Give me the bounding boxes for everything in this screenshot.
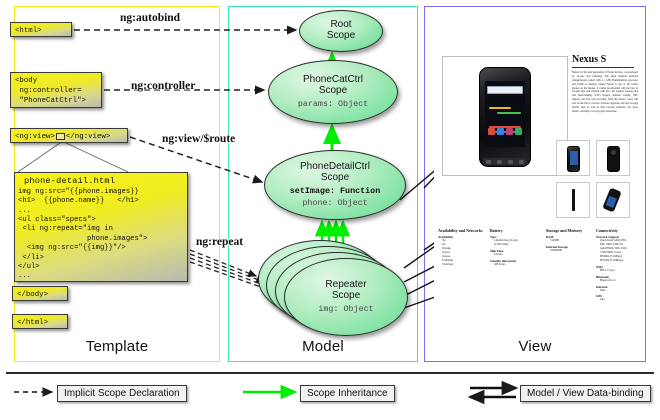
spec-table: Availability and Networks Availability 3…	[438, 228, 638, 310]
product-description: Nexus S is the next generation of Nexus …	[572, 71, 638, 114]
search-bar-icon	[487, 86, 523, 94]
thumb-front-icon	[567, 146, 580, 172]
spec-group-connectivity: Connectivity Network Support Quad-band G…	[596, 228, 642, 302]
diagram-canvas: <html> <body ng:controller= "PhoneCatCtr…	[0, 0, 660, 420]
scope-phonecatctrl-prop-params: params: Object	[298, 99, 368, 109]
spec-value-3-0-5: HSUPA (5.76Mbps)	[596, 259, 642, 263]
scope-repeater[interactable]: Repeater Scope img: Object	[284, 258, 408, 336]
scope-root-name-2: Scope	[327, 31, 355, 42]
code-block-body-close[interactable]: </body>	[12, 286, 68, 301]
legend-item-model-view-data-binding: Model / View Data-binding	[520, 385, 651, 402]
legend-divider	[6, 372, 654, 374]
callout-phone-detail-html[interactable]: phone-detail.html img ng:src="{{phone.im…	[14, 172, 188, 282]
spec-value-2-0-0: 512MB	[546, 239, 594, 243]
thumbnail-phone-side[interactable]	[556, 182, 590, 218]
legend-item-scope-inheritance: Scope Inheritance	[300, 385, 395, 402]
thumbnail-phone-back[interactable]	[596, 140, 630, 176]
spec-value-1-0-1: (1500 mAh)	[490, 243, 540, 247]
thumb-back-icon	[607, 146, 620, 172]
callout-code: img ng:src="{{phone.images}} <h1> {{phon…	[15, 188, 187, 282]
product-title: Nexus S	[572, 54, 606, 65]
scope-phonecatctrl[interactable]: PhoneCatCtrl Scope params: Object	[268, 60, 398, 124]
code-block-html-open[interactable]: <html>	[10, 22, 72, 37]
phone-screen	[485, 81, 525, 147]
spec-value-3-4-0: true	[596, 298, 642, 302]
code-block-html-close[interactable]: </html>	[12, 314, 68, 329]
spec-heading-2: Storage and Memory	[546, 228, 594, 233]
scope-repeater-prop-img: img: Object	[318, 304, 373, 314]
spec-heading-3: Connectivity	[596, 228, 642, 233]
spec-value-1-2-0: 428 hours	[490, 263, 540, 267]
scope-phonedetailctrl-prop-phone: phone: Object	[302, 198, 367, 208]
code-block-ng-view[interactable]: <ng:view></ng:view>	[10, 128, 128, 143]
column-label-view: View	[424, 338, 646, 355]
thumbnail-phone-angled[interactable]	[596, 182, 630, 218]
scope-phonedetailctrl[interactable]: PhoneDetailCtrl Scope setImage: Function…	[264, 150, 406, 220]
connector-label-ngrepeat: ng:repeat	[196, 236, 243, 248]
thumb-side-icon	[572, 189, 575, 211]
callout-title: phone-detail.html	[15, 173, 187, 188]
thumbnail-phone-front[interactable]	[556, 140, 590, 176]
main-phone-image-frame[interactable]	[442, 56, 568, 176]
spec-value-3-2-0: Bluetooth 2.1	[596, 279, 642, 283]
connector-label-autobind: ng:autobind	[120, 12, 180, 24]
scope-phonedetailctrl-prop-setimage: setImage: Function	[290, 186, 380, 196]
spec-value-1-1-0: 6 hours	[490, 253, 540, 257]
app-dock	[487, 128, 523, 137]
ng-view-placeholder-icon	[56, 133, 65, 140]
spec-heading-1: Battery	[490, 228, 540, 233]
phone-illustration	[479, 67, 531, 167]
phone-nav-bar	[483, 158, 527, 165]
spec-group-storage: Storage and Memory RAM 512MB Internal St…	[546, 228, 594, 253]
ng-view-open-tag: <ng:view>	[15, 133, 55, 141]
spec-value-0-0-6: Vodafone	[438, 263, 484, 267]
spec-heading-0: Availability and Networks	[438, 228, 484, 233]
scope-root[interactable]: Root Scope	[299, 10, 383, 52]
ng-view-close-tag: </ng:view>	[66, 133, 110, 141]
connector-label-ngview: ng:view/$route	[162, 133, 235, 145]
code-block-body-open[interactable]: <body ng:controller= "PhoneCatCtrl">	[10, 72, 102, 108]
legend-item-implicit-scope-declaration: Implicit Scope Declaration	[57, 385, 187, 402]
scope-phonedetailctrl-name-2: Scope	[321, 173, 349, 184]
rendered-view: Nexus S Nexus S is the next generation o…	[434, 16, 638, 332]
scope-phonecatctrl-name-2: Scope	[319, 86, 347, 97]
spec-value-3-1-0: 802.11 b/g/n	[596, 269, 642, 273]
spec-group-battery: Battery Type Lithium Ion (Li-Ion) (1500 …	[490, 228, 540, 267]
connector-label-controller: ng:controller	[131, 80, 195, 92]
column-label-template: Template	[14, 338, 220, 355]
scope-repeater-name-2: Scope	[332, 291, 360, 302]
column-label-model: Model	[228, 338, 418, 355]
spec-value-2-1-0: 16384MB	[546, 249, 594, 253]
spec-value-3-3-0: false	[596, 289, 642, 293]
thumb-angled-icon	[602, 188, 621, 213]
spec-group-availability: Availability and Networks Availability 3…	[438, 228, 484, 267]
